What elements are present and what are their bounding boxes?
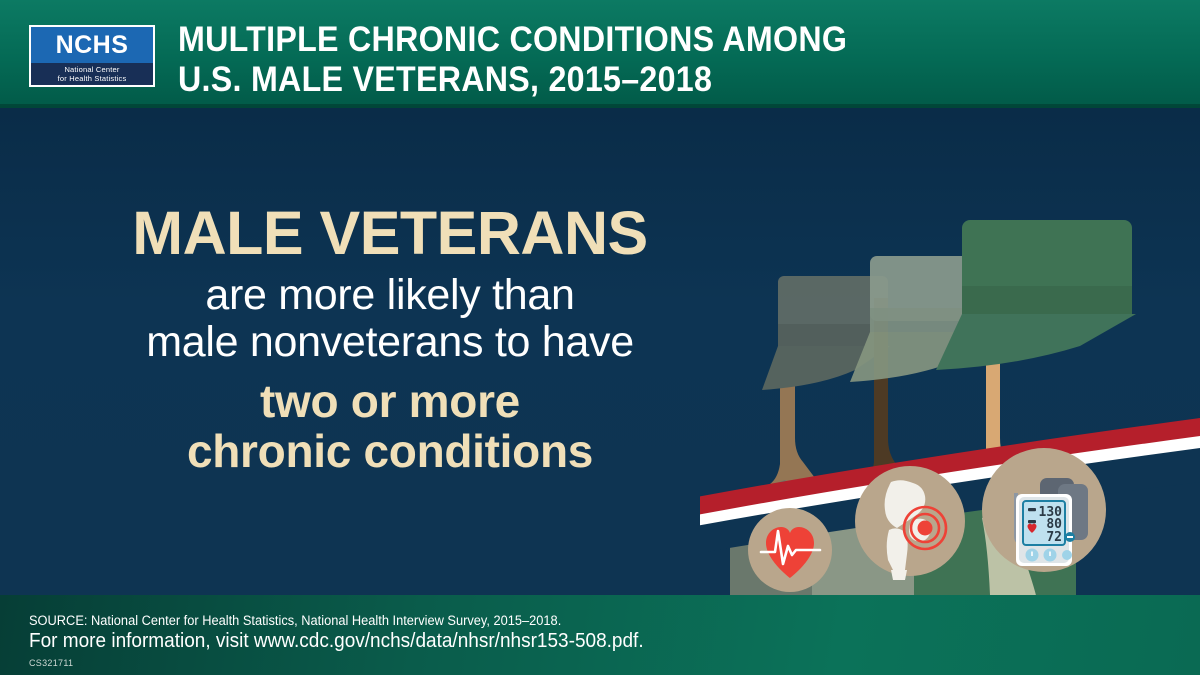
page-title-line2: U.S. MALE VETERANS, 2015–2018 <box>178 60 1006 100</box>
page-title-line1: MULTIPLE CHRONIC CONDITIONS AMONG <box>178 20 1006 60</box>
heart-ekg-icon <box>748 508 832 592</box>
blood-pressure-monitor-icon: 130 80 72 <box>982 448 1106 572</box>
footer-band: SOURCE: National Center for Health Stati… <box>0 595 1200 675</box>
body-area: MALE VETERANS are more likely than male … <box>0 108 1200 595</box>
nchs-name-line2: for Health Statistics <box>58 74 127 84</box>
nchs-logo: NCHS National Center for Health Statisti… <box>29 25 155 87</box>
nchs-name-line1: National Center <box>64 65 119 75</box>
message-headline: MALE VETERANS <box>40 203 740 264</box>
message-line-2: are more likely than <box>40 274 740 317</box>
cs-number: CS321711 <box>29 657 676 669</box>
header-band: NCHS National Center for Health Statisti… <box>0 0 1200 108</box>
veterans-illustration: 130 80 72 <box>700 108 1200 595</box>
nchs-logo-name-panel: National Center for Health Statistics <box>31 63 153 85</box>
message-line-3: male nonveterans to have <box>40 321 740 364</box>
source-line: SOURCE: National Center for Health Stati… <box>29 612 644 629</box>
message-accent-2: chronic conditions <box>40 428 740 474</box>
page-title: MULTIPLE CHRONIC CONDITIONS AMONG U.S. M… <box>178 20 1078 100</box>
message-accent-1: two or more <box>40 378 740 424</box>
infographic-canvas: NCHS National Center for Health Statisti… <box>0 0 1200 675</box>
nchs-acronym: NCHS <box>56 33 129 58</box>
nchs-logo-acronym-panel: NCHS <box>31 27 153 63</box>
bp-pulse-value: 72 <box>1046 530 1062 545</box>
main-message: MALE VETERANS are more likely than male … <box>40 203 740 478</box>
footer-text-block: SOURCE: National Center for Health Stati… <box>29 612 676 669</box>
more-info-line[interactable]: For more information, visit www.cdc.gov/… <box>29 629 644 654</box>
